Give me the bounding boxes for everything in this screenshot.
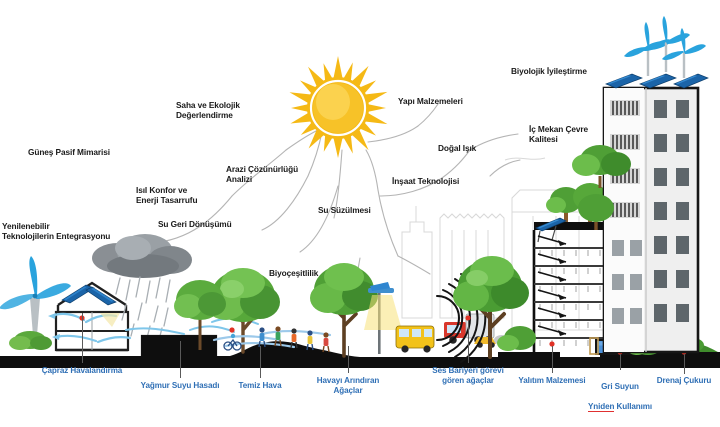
- tree-beside-tower-base: [572, 145, 631, 188]
- label-havayi-arindiran: Havayı Arındıran Ağaçlar: [301, 376, 395, 396]
- label-saha-ve-ekolojik: Saha ve Ekolojik Değerlendirme: [176, 100, 286, 120]
- tree-left-mid: [174, 280, 226, 350]
- gri-suyun-misspelled-word: Yniden: [588, 402, 614, 412]
- label-biyocesitlilik: Biyoçeşitlilik: [269, 268, 355, 278]
- park-stream: [214, 331, 330, 347]
- label-arazi-cozunurlugu: Arazi Çözünürlüğü Analizi: [226, 164, 336, 184]
- infographic-canvas: Güneş Pasif Mimarisi Yenilenebilir Tekno…: [0, 0, 720, 427]
- water-flow: [126, 318, 258, 334]
- label-yenilenebilir-teknolojiler: Yenilenebilir Teknolojilerin Entegrasyon…: [2, 221, 124, 241]
- leader-capraz-havalandirma: [82, 313, 83, 363]
- street-lamp: [364, 282, 402, 354]
- truck-vehicle: [444, 314, 494, 344]
- label-isil-konfor: Isıl Konfor ve Enerji Tasarrufu: [136, 185, 236, 205]
- label-capraz-havalandirma: Çapraz Havalandırma: [23, 366, 141, 376]
- bus-vehicle: [396, 326, 434, 353]
- leader-yagmur-suyu-hasadi: [180, 341, 181, 378]
- gri-suyun-line2-rest: Kullanımı: [614, 402, 652, 411]
- label-temiz-hava: Temiz Hava: [220, 381, 300, 391]
- wind-turbine-left: [0, 256, 71, 348]
- ground-profile: [0, 336, 720, 368]
- small-car-vehicle: [474, 337, 496, 348]
- bush-left-of-tower: [497, 326, 536, 351]
- rainwater-pool: [142, 336, 216, 356]
- tree-clean-air: [206, 268, 280, 352]
- drainage-pit: [652, 336, 718, 355]
- label-ic-mekan-cevre: İç Mekan Çevre Kalitesi: [529, 124, 633, 144]
- label-su-suzulmesi: Su Süzülmesi: [318, 205, 404, 215]
- tower-wind-turbines: [624, 16, 706, 78]
- rooftop-trees: [546, 183, 628, 222]
- sound-waves: [437, 274, 485, 362]
- bush-right: [627, 339, 662, 355]
- leader-drenaj-cukuru: [684, 354, 685, 374]
- tree-sound-barrier: [453, 256, 529, 357]
- cross-ventilation-building: [48, 283, 130, 350]
- label-gunes-pasif-mimarisi: Güneş Pasif Mimarisi: [28, 147, 154, 157]
- exhaust-smoke: [494, 332, 518, 345]
- tree-near-tower: [578, 194, 614, 230]
- greywater-tank: [590, 338, 644, 355]
- label-drenaj-cukuru: Drenaj Çukuru: [643, 376, 720, 386]
- label-yapi-malzemeleri: Yapı Malzemeleri: [398, 96, 504, 106]
- green-building-section: [534, 183, 640, 352]
- leader-havayi-arindiran: [348, 346, 349, 373]
- label-biyolojik-iyilestirme: Biyolojik İyileştirme: [511, 66, 633, 76]
- label-insaat-teknolojisi: İnşaat Teknolojisi: [392, 176, 502, 186]
- bush-left: [9, 331, 52, 350]
- leader-temiz-hava: [260, 346, 261, 378]
- park-people: [224, 326, 329, 352]
- leader-ses-bariyeri: [468, 320, 469, 363]
- label-dogal-isik: Doğal Işık: [438, 143, 516, 153]
- rain-drops: [116, 277, 170, 340]
- leader-yalitim-malzemesi: [552, 346, 553, 373]
- marker-dot: [229, 327, 234, 332]
- label-su-geri-donusumu: Su Geri Dönüşümü: [158, 219, 268, 229]
- gri-suyun-line1: Gri Suyun: [601, 382, 639, 391]
- leader-gri-suyun: [620, 354, 621, 370]
